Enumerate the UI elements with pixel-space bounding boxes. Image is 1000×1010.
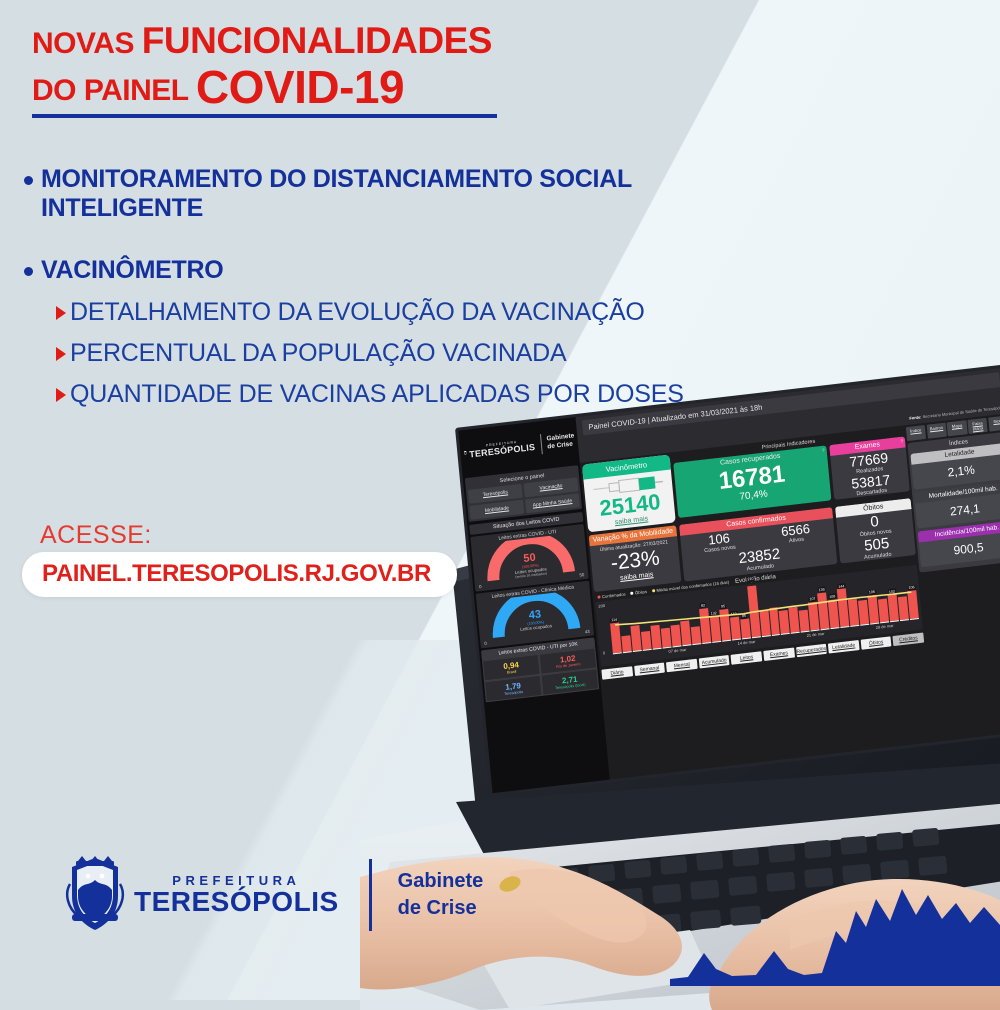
info-icon-recovered[interactable]: ?	[822, 447, 825, 452]
headline-line-1: NOVAS FUNCIONALIDADES	[32, 22, 672, 60]
mobility-card: Variação % da Mobilidade Última atualiza…	[589, 525, 682, 592]
sub-label-quantidade: QUANTIDADE DE VACINAS APLICADAS POR DOSE…	[70, 380, 684, 408]
footer-city-text: PREFEITURA TERESÓPOLIS	[134, 873, 339, 918]
headline-line1-small: NOVAS	[32, 27, 142, 60]
bottom-tab-recuperados[interactable]: Recuperados	[796, 644, 827, 657]
bullet-item-monitoramento: MONITORAMENTO DO DISTANCIAMENTO SOCIAL I…	[24, 165, 724, 222]
headline: NOVAS FUNCIONALIDADES DO PAINEL COVID-19	[32, 22, 672, 118]
headline-underline	[32, 114, 497, 118]
indices-panel: Índices Letalidade 2,1% Mortalidade/100m…	[907, 431, 1000, 572]
gauge-card-clinica: Leitos extras COVID - Clínica Médica 43 …	[476, 581, 594, 649]
sub-item-percentual: PERCENTUAL DA POPULAÇÃO VACINADA	[56, 339, 724, 367]
bottom-tab-mensal[interactable]: Mensal	[666, 659, 697, 672]
bottom-tab-semanal[interactable]: Semanal	[634, 663, 665, 676]
covid-dashboard: PREFEITURA TERESÓPOLIS Gabinete de Crise…	[455, 364, 1000, 796]
right-tab-faixaetria[interactable]: Faixa etária	[968, 418, 988, 434]
legend-dot-icon	[597, 595, 600, 598]
footer-office: Gabinete de Crise	[398, 868, 484, 922]
info-icon-exams[interactable]: ?	[900, 438, 903, 443]
gauge-card-uti: Leitos extras COVID - UTI 50 (100,00%) L…	[470, 524, 588, 592]
footer-city: TERESÓPOLIS	[134, 886, 339, 918]
y-tick-max: 200	[598, 603, 605, 609]
chart-bar-label: 210	[746, 577, 754, 583]
gauge-axis-min-clinica: 0	[484, 641, 487, 646]
triangle-bullet-icon	[56, 388, 66, 402]
city-crest-icon	[62, 856, 128, 934]
dashboard-main: Vacinômetro 25140 saiba mais Principais	[580, 425, 936, 785]
chart-x-tick: 14 de mar	[737, 639, 755, 646]
chart-x-tick: 07 de mar	[668, 647, 686, 654]
laptop-screen: PREFEITURA TERESÓPOLIS Gabinete de Crise…	[455, 364, 1000, 827]
gauge-axis-max-clinica: 43	[585, 629, 590, 635]
footer-logo: PREFEITURA TERESÓPOLIS Gabinete de Crise	[62, 856, 483, 934]
url-pill[interactable]: PAINEL.TERESOPOLIS.RJ.GOV.BR	[22, 552, 457, 597]
bullet-dot-icon	[24, 176, 33, 185]
headline-line2-big: COVID-19	[196, 61, 404, 113]
access-label: ACESSE:	[40, 521, 152, 550]
right-tab-mapa[interactable]: Mapa	[947, 420, 967, 436]
logo-divider	[540, 434, 542, 454]
dashboard-logo-office-line2: de Crise	[547, 440, 575, 452]
source-label: Fonte:	[909, 414, 922, 420]
city-crest-icon	[462, 442, 468, 464]
legend-dot-icon	[630, 592, 633, 595]
bottom-tab-dirio[interactable]: Diário	[601, 666, 632, 679]
headline-line-2: DO PAINEL COVID-19	[32, 64, 672, 111]
right-tab-ndice[interactable]: Índice	[906, 425, 926, 441]
bullet-dot-icon	[24, 267, 33, 276]
vaccinometer-card: Vacinômetro 25140 saiba mais	[582, 455, 676, 533]
bottom-tab-letalidade[interactable]: Letalidade	[828, 640, 859, 653]
y-tick-min: 0	[603, 650, 606, 655]
index-card-mortalidade: Mortalidade/100mil hab. 274,1	[914, 481, 1000, 528]
chart-x-tick: 21 de mar	[806, 631, 824, 638]
sub-label-detalhamento: DETALHAMENTO DA EVOLUÇÃO DA VACINAÇÃO	[70, 298, 645, 326]
bullet-label-vacinometro: VACINÔMETRO	[41, 256, 223, 285]
deaths-card: Óbitos 0 Óbitos novos 505 Acumulado	[835, 498, 916, 563]
footer-office-line2: de Crise	[398, 895, 484, 922]
sub-item-detalhamento: DETALHAMENTO DA EVOLUÇÃO DA VACINAÇÃO	[56, 298, 724, 326]
bottom-tab-crditos[interactable]: Créditos	[893, 633, 924, 646]
right-tab-sexo[interactable]: Sexo	[988, 415, 1000, 431]
exams-card: Exames ? 77669 Realizados 53817 Descarta…	[829, 436, 910, 500]
headline-line2-small: DO PAINEL	[32, 74, 196, 107]
gauge-axis-min-uti: 0	[479, 584, 482, 589]
sub-label-percentual: PERCENTUAL DA POPULAÇÃO VACINADA	[70, 339, 567, 367]
footer-divider	[369, 859, 372, 931]
bottom-tab-acumulado[interactable]: Acumulado	[699, 655, 730, 668]
dashboard-url[interactable]: PAINEL.TERESOPOLIS.RJ.GOV.BR	[42, 560, 431, 587]
bullet-item-vacinometro: VACINÔMETRO	[24, 256, 724, 285]
chart-x-tick: 28 de mar	[876, 623, 894, 630]
feature-list: MONITORAMENTO DO DISTANCIAMENTO SOCIAL I…	[24, 165, 724, 408]
triangle-bullet-icon	[56, 347, 66, 361]
sub-item-quantidade: QUANTIDADE DE VACINAS APLICADAS POR DOSE…	[56, 380, 724, 408]
index-card-incidencia: Incidência/100mil hab. 900,5	[918, 520, 1000, 567]
triangle-bullet-icon	[56, 306, 66, 320]
right-tab-bairros[interactable]: Bairros	[926, 423, 946, 439]
bullet-label-monitoramento: MONITORAMENTO DO DISTANCIAMENTO SOCIAL I…	[41, 165, 724, 222]
bottom-tab-exames[interactable]: Exames	[763, 648, 794, 661]
bottom-tab-leitos[interactable]: Leitos	[731, 651, 762, 664]
headline-line1-big: FUNCIONALIDADES	[142, 20, 492, 61]
beds-per-10k-panel: Leitos extras COVID - UTI por 10K 0,94 B…	[481, 637, 599, 702]
mountain-silhouette-icon	[670, 881, 1000, 986]
gauge-axis-max-uti: 50	[579, 572, 584, 578]
bottom-tab-bitos[interactable]: Óbitos	[860, 636, 891, 649]
legend-dot-icon	[652, 589, 655, 592]
footer-office-line1: Gabinete	[398, 868, 484, 895]
